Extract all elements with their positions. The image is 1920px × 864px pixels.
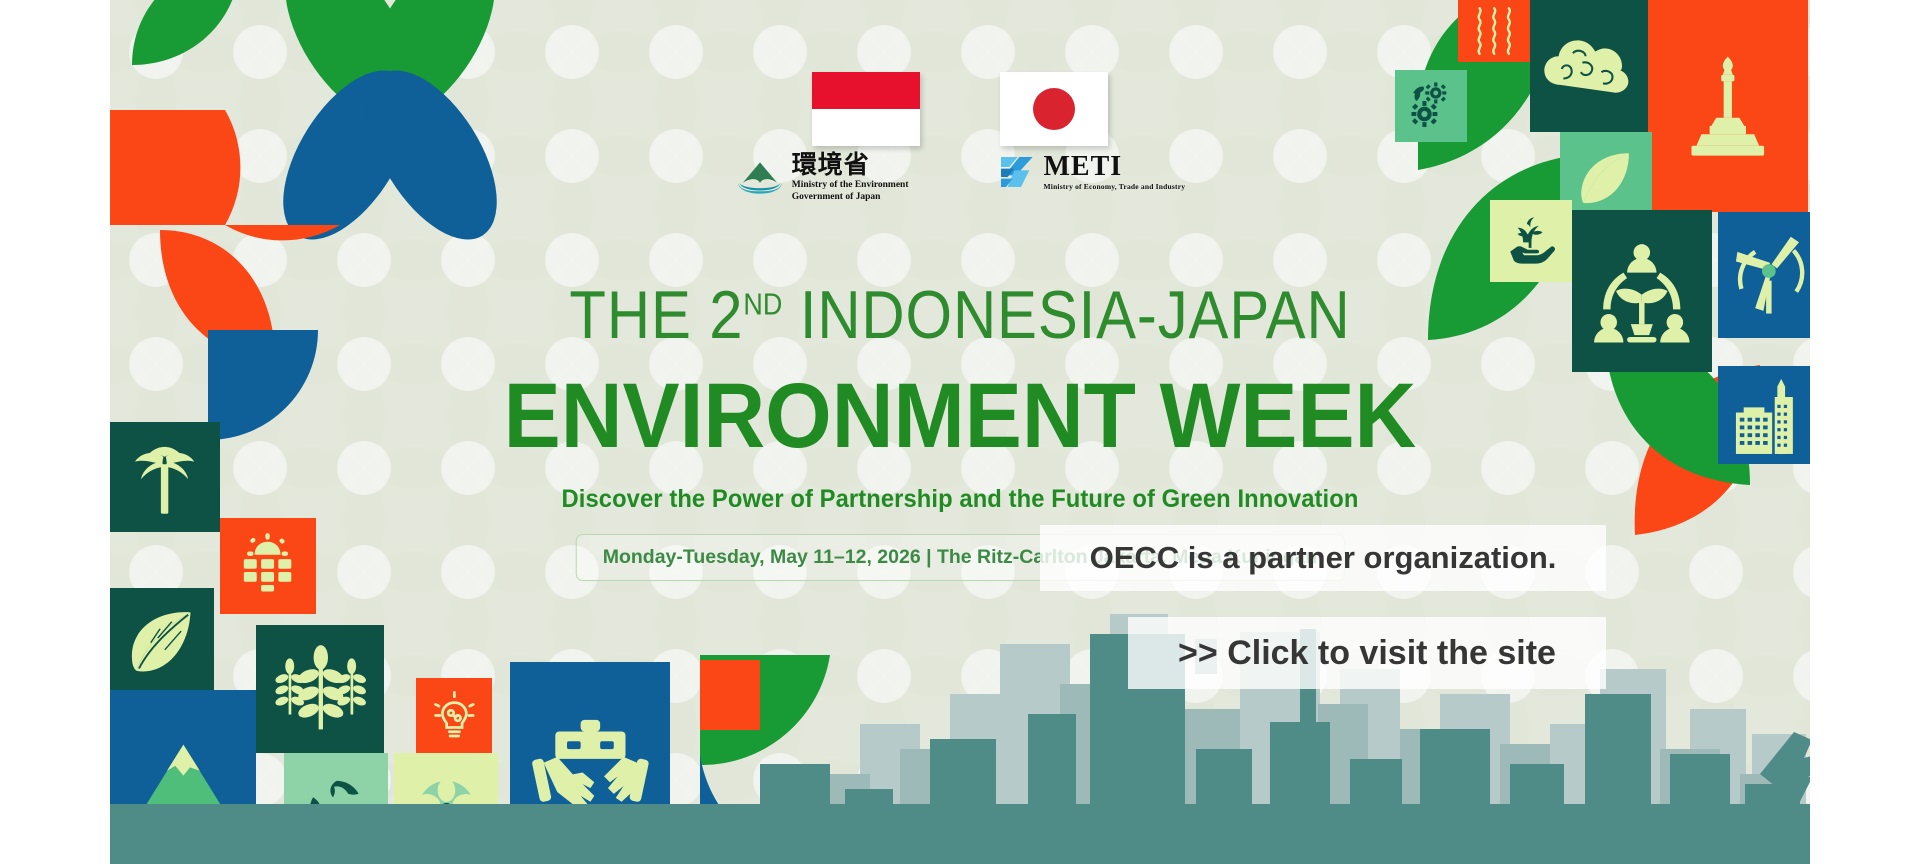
moe-japan-mark-icon: [735, 159, 785, 197]
japan-flag: [1000, 72, 1108, 146]
banner-root: 環境省 Ministry of the Environment Governme…: [0, 0, 1920, 864]
moe-japan-name-line2: Government of Japan: [792, 192, 909, 204]
title-line-2: ENVIRONMENT WEEK: [67, 370, 1853, 462]
meti-abbreviation: METI: [1044, 153, 1186, 181]
visit-site-cta-overlay[interactable]: >> Click to visit the site: [1128, 617, 1606, 689]
meti-logo: METI Ministry of Economy, Trade and Indu…: [995, 152, 1186, 192]
meti-mark-icon: [995, 152, 1037, 192]
title-line-1-pre: THE 2: [569, 277, 743, 353]
flags-row: [0, 72, 1920, 146]
title-line-1-post: INDONESIA-JAPAN: [782, 277, 1350, 353]
visit-site-cta-text: >> Click to visit the site: [1178, 634, 1556, 673]
partner-note-text: OECC is a partner organization.: [1090, 540, 1557, 576]
right-gutter: [1810, 0, 1920, 864]
moe-japan-logo: 環境省 Ministry of the Environment Governme…: [735, 152, 909, 204]
moe-japan-name-line1: Ministry of the Environment: [792, 180, 909, 192]
title-ordinal-suffix: ND: [743, 287, 782, 321]
tagline: Discover the Power of Partnership and th…: [48, 485, 1872, 514]
meti-subtitle: Ministry of Economy, Trade and Industry: [1044, 183, 1186, 191]
indonesia-flag: [812, 72, 920, 146]
left-gutter: [0, 0, 110, 864]
ministry-logos-row: 環境省 Ministry of the Environment Governme…: [0, 152, 1920, 204]
partner-note-overlay: OECC is a partner organization.: [1040, 525, 1606, 591]
moe-japan-kanji: 環境省: [792, 152, 909, 177]
title-line-1: THE 2ND INDONESIA-JAPAN: [115, 276, 1805, 354]
